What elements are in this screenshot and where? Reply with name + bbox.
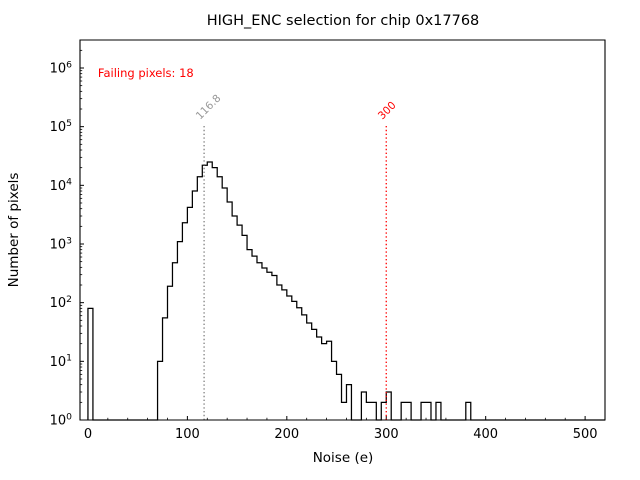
x-tick-label: 100: [175, 427, 200, 442]
y-axis-label: Number of pixels: [6, 173, 22, 288]
plot-border: [80, 40, 605, 420]
histogram-series-group: [88, 162, 605, 420]
axes-frame-group: [80, 40, 605, 420]
title-group: HIGH_ENC selection for chip 0x17768: [207, 13, 480, 29]
y-tick-label: 104: [50, 177, 73, 194]
histogram-plot: HIGH_ENC selection for chip 0x17768 0100…: [0, 0, 640, 480]
y-tick-label: 101: [50, 353, 72, 370]
x-tick-label: 300: [374, 427, 399, 442]
figure-canvas: HIGH_ENC selection for chip 0x17768 0100…: [0, 0, 640, 480]
y-tick-group: 100101102103104105106: [50, 40, 84, 429]
y-tick-label: 106: [50, 59, 73, 76]
vline-label-mean: 116.8: [194, 92, 224, 122]
x-tick-label: 500: [573, 427, 598, 442]
y-tick-label: 100: [50, 411, 73, 428]
x-tick-label: 0: [84, 427, 92, 442]
vertical-marker-group: 116.8300: [194, 92, 399, 420]
y-tick-label: 103: [50, 235, 73, 252]
vline-label-limit: 300: [376, 99, 399, 122]
x-tick-label: 200: [274, 427, 299, 442]
annotation-failing-pixels: Failing pixels: 18: [98, 66, 194, 80]
x-tick-label: 400: [473, 427, 498, 442]
histogram-step-line: [88, 162, 605, 420]
x-axis-label: Noise (e): [313, 450, 374, 466]
y-tick-label: 105: [50, 118, 73, 135]
chart-title: HIGH_ENC selection for chip 0x17768: [207, 13, 480, 29]
y-tick-label: 102: [50, 294, 72, 311]
annotation-group: Failing pixels: 18: [98, 66, 194, 80]
